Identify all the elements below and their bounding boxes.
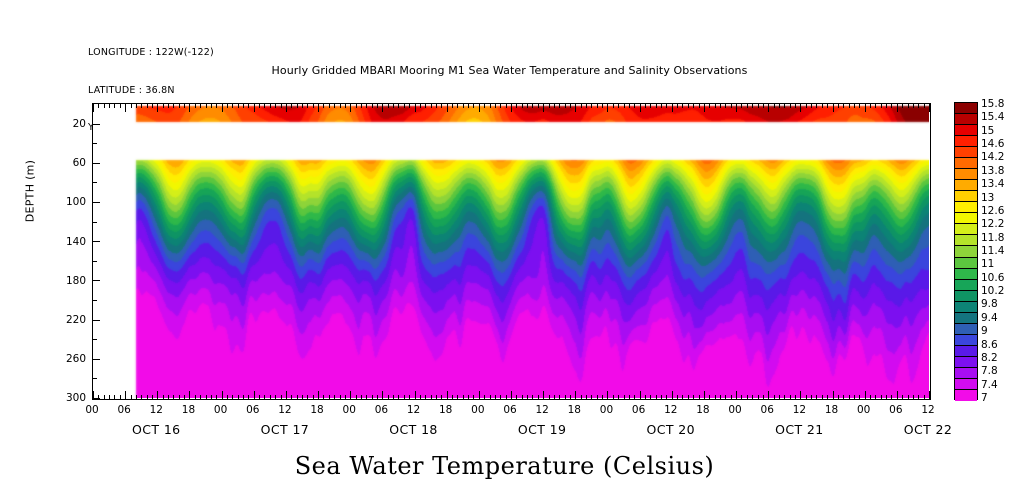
x-axis-minor-tick xyxy=(731,104,732,108)
x-axis-minor-tick xyxy=(725,104,726,108)
x-axis-minor-tick xyxy=(843,395,844,399)
x-axis-tick xyxy=(543,391,544,399)
x-axis-minor-tick xyxy=(902,104,903,108)
colorbar-swatch xyxy=(955,346,977,357)
x-axis-minor-tick xyxy=(323,395,324,399)
x-axis-minor-tick xyxy=(854,104,855,108)
x-tick-label: 06 xyxy=(246,404,259,416)
colorbar-swatch xyxy=(955,147,977,158)
x-axis-minor-tick xyxy=(216,395,217,399)
x-axis-minor-tick xyxy=(441,395,442,399)
x-axis-minor-tick xyxy=(452,104,453,108)
x-axis-minor-tick xyxy=(211,104,212,108)
x-axis-minor-tick xyxy=(527,104,528,108)
x-axis-minor-tick xyxy=(500,395,501,399)
x-axis-minor-tick xyxy=(436,104,437,108)
x-axis-tick xyxy=(575,104,576,112)
x-axis-minor-tick xyxy=(629,104,630,108)
x-axis-minor-tick xyxy=(650,104,651,108)
x-axis-minor-tick xyxy=(822,104,823,108)
y-axis-tick xyxy=(92,202,100,203)
colorbar-tick-label: 13.8 xyxy=(981,165,1004,177)
x-axis-minor-tick xyxy=(538,395,539,399)
x-axis-minor-tick xyxy=(211,395,212,399)
x-axis-tick xyxy=(833,391,834,399)
y-tick-label: 180 xyxy=(66,275,86,287)
x-axis-tick xyxy=(189,104,190,112)
x-axis-minor-tick xyxy=(774,395,775,399)
x-axis-minor-tick xyxy=(870,104,871,108)
x-axis-minor-tick xyxy=(490,104,491,108)
x-axis-minor-tick xyxy=(602,104,603,108)
contour-plot-area xyxy=(92,103,931,400)
x-axis-tick xyxy=(929,104,930,112)
x-axis-tick xyxy=(286,391,287,399)
x-tick-label: 12 xyxy=(921,404,934,416)
x-axis-minor-tick xyxy=(457,395,458,399)
x-axis-minor-tick xyxy=(114,104,115,108)
x-axis-minor-tick xyxy=(602,395,603,399)
x-tick-label: 18 xyxy=(825,404,838,416)
x-axis-tick xyxy=(736,104,737,112)
x-tick-label: 06 xyxy=(761,404,774,416)
x-tick-label: 06 xyxy=(117,404,130,416)
x-axis-minor-tick xyxy=(147,395,148,399)
x-axis-minor-tick xyxy=(806,395,807,399)
x-axis-minor-tick xyxy=(913,104,914,108)
x-axis-minor-tick xyxy=(302,104,303,108)
colorbar-swatch xyxy=(955,191,977,202)
colorbar-tick-label: 7.8 xyxy=(981,365,998,377)
x-axis-minor-tick xyxy=(634,104,635,108)
x-axis-minor-tick xyxy=(527,395,528,399)
x-axis-minor-tick xyxy=(393,395,394,399)
x-axis-minor-tick xyxy=(307,104,308,108)
x-axis-minor-tick xyxy=(120,395,121,399)
x-axis-minor-tick xyxy=(490,395,491,399)
colorbar-swatch xyxy=(955,103,977,114)
x-tick-label: 18 xyxy=(310,404,323,416)
x-tick-label: 18 xyxy=(568,404,581,416)
x-axis-tick xyxy=(254,104,255,112)
y-tick-label: 20 xyxy=(73,118,86,130)
x-axis-minor-tick xyxy=(666,395,667,399)
x-axis-minor-tick xyxy=(902,395,903,399)
colorbar-swatch xyxy=(955,114,977,125)
colorbar-swatch xyxy=(955,269,977,280)
x-axis-minor-tick xyxy=(361,104,362,108)
x-axis-tick xyxy=(157,104,158,112)
x-axis-minor-tick xyxy=(758,395,759,399)
x-tick-label: 12 xyxy=(278,404,291,416)
x-axis-minor-tick xyxy=(264,395,265,399)
colorbar-swatch xyxy=(955,379,977,390)
x-axis-minor-tick xyxy=(388,395,389,399)
y-tick-label: 220 xyxy=(66,314,86,326)
x-axis-minor-tick xyxy=(720,104,721,108)
x-axis-tick xyxy=(318,104,319,112)
x-axis-tick xyxy=(672,391,673,399)
x-axis-minor-tick xyxy=(522,104,523,108)
x-axis-minor-tick xyxy=(682,395,683,399)
colorbar-tick-label: 13.4 xyxy=(981,178,1004,190)
x-tick-label: 00 xyxy=(857,404,870,416)
x-axis-minor-tick xyxy=(281,104,282,108)
x-axis-minor-tick xyxy=(645,395,646,399)
colorbar-tick-label: 14.6 xyxy=(981,138,1004,150)
x-axis-tick xyxy=(93,391,94,399)
x-axis-minor-tick xyxy=(372,395,373,399)
x-tick-label: 18 xyxy=(696,404,709,416)
x-axis-minor-tick xyxy=(624,395,625,399)
x-axis-tick xyxy=(768,104,769,112)
x-axis-minor-tick xyxy=(516,104,517,108)
x-axis-minor-tick xyxy=(136,104,137,108)
x-axis-minor-tick xyxy=(591,104,592,108)
x-axis-minor-tick xyxy=(297,395,298,399)
x-axis-tick xyxy=(768,391,769,399)
x-axis-minor-tick xyxy=(634,395,635,399)
colorbar-swatch xyxy=(955,258,977,269)
x-axis-minor-tick xyxy=(532,395,533,399)
y-axis-minor-tick xyxy=(92,261,97,262)
chart-title: Hourly Gridded MBARI Mooring M1 Sea Wate… xyxy=(0,64,1009,77)
y-axis-minor-tick xyxy=(92,222,97,223)
x-axis-minor-tick xyxy=(131,395,132,399)
x-axis-minor-tick xyxy=(613,104,614,108)
x-axis-minor-tick xyxy=(248,395,249,399)
x-axis-minor-tick xyxy=(227,395,228,399)
x-tick-label: 18 xyxy=(182,404,195,416)
y-tick-label: 300 xyxy=(66,392,86,404)
x-axis-minor-tick xyxy=(549,395,550,399)
x-axis-minor-tick xyxy=(699,395,700,399)
x-axis-minor-tick xyxy=(313,104,314,108)
x-axis-tick xyxy=(382,104,383,112)
x-axis-minor-tick xyxy=(763,395,764,399)
x-axis-minor-tick xyxy=(554,104,555,108)
x-axis-minor-tick xyxy=(741,395,742,399)
x-axis-minor-tick xyxy=(581,104,582,108)
x-axis-minor-tick xyxy=(618,395,619,399)
contour-canvas-wrap xyxy=(93,104,930,399)
x-axis-tick xyxy=(189,391,190,399)
x-axis-tick xyxy=(704,104,705,112)
x-axis-minor-tick xyxy=(720,395,721,399)
x-axis-hour-labels: 0006121800061218000612180006121800061218… xyxy=(92,404,931,420)
x-axis-minor-tick xyxy=(790,395,791,399)
x-axis-tick xyxy=(511,104,512,112)
x-axis-minor-tick xyxy=(131,104,132,108)
x-axis-tick xyxy=(286,104,287,112)
x-axis-tick xyxy=(318,391,319,399)
x-axis-minor-tick xyxy=(441,104,442,108)
x-day-label: OCT 19 xyxy=(518,422,566,437)
x-axis-minor-tick xyxy=(152,104,153,108)
x-axis-minor-tick xyxy=(891,104,892,108)
x-axis-minor-tick xyxy=(291,104,292,108)
x-axis-minor-tick xyxy=(345,104,346,108)
x-axis-minor-tick xyxy=(484,395,485,399)
chart-subtitle: Sea Water Temperature (Celsius) xyxy=(0,452,1009,480)
x-axis-minor-tick xyxy=(816,104,817,108)
x-tick-label: 12 xyxy=(150,404,163,416)
y-tick-label: 260 xyxy=(66,353,86,365)
x-axis-tick xyxy=(415,391,416,399)
y-axis-minor-tick xyxy=(92,378,97,379)
x-tick-label: 06 xyxy=(503,404,516,416)
x-axis-minor-tick xyxy=(741,104,742,108)
x-axis-minor-tick xyxy=(297,104,298,108)
x-axis-minor-tick xyxy=(908,104,909,108)
x-axis-minor-tick xyxy=(886,104,887,108)
colorbar-swatch xyxy=(955,213,977,224)
x-axis-minor-tick xyxy=(661,395,662,399)
x-axis-minor-tick xyxy=(763,104,764,108)
y-axis-labels: 2060100140180220260300 xyxy=(42,103,86,400)
longitude-label: LONGITUDE : 122W(-122) xyxy=(88,47,214,60)
x-axis-minor-tick xyxy=(559,395,560,399)
colorbar-swatch xyxy=(955,313,977,324)
x-axis-tick xyxy=(254,391,255,399)
y-axis-tick xyxy=(92,280,100,281)
x-axis-minor-tick xyxy=(843,104,844,108)
colorbar-tick-label: 10.2 xyxy=(981,285,1004,297)
x-axis-minor-tick xyxy=(559,104,560,108)
x-axis-minor-tick xyxy=(243,104,244,108)
y-axis-title: DEPTH (m) xyxy=(24,160,37,223)
x-axis-minor-tick xyxy=(666,104,667,108)
x-axis-minor-tick xyxy=(463,395,464,399)
colorbar-swatch xyxy=(955,291,977,302)
y-axis-tick xyxy=(92,359,100,360)
x-tick-label: 06 xyxy=(632,404,645,416)
x-axis-minor-tick xyxy=(774,104,775,108)
x-axis-minor-tick xyxy=(184,104,185,108)
x-axis-tick xyxy=(865,391,866,399)
x-axis-minor-tick xyxy=(179,395,180,399)
x-axis-tick xyxy=(447,104,448,112)
x-axis-minor-tick xyxy=(206,104,207,108)
x-axis-minor-tick xyxy=(725,395,726,399)
x-axis-minor-tick xyxy=(259,395,260,399)
x-axis-minor-tick xyxy=(849,104,850,108)
colorbar-tick-label: 9.8 xyxy=(981,298,998,310)
x-axis-minor-tick xyxy=(699,104,700,108)
x-axis-tick xyxy=(479,391,480,399)
colorbar-tick-label: 15.8 xyxy=(981,98,1004,110)
x-axis-minor-tick xyxy=(361,395,362,399)
x-axis-minor-tick xyxy=(404,104,405,108)
x-axis-tick xyxy=(222,104,223,112)
x-axis-minor-tick xyxy=(549,104,550,108)
x-axis-minor-tick xyxy=(656,395,657,399)
x-axis-minor-tick xyxy=(586,104,587,108)
x-axis-minor-tick xyxy=(752,104,753,108)
x-axis-minor-tick xyxy=(570,104,571,108)
x-tick-label: 00 xyxy=(343,404,356,416)
x-axis-minor-tick xyxy=(677,104,678,108)
x-day-label: OCT 21 xyxy=(775,422,823,437)
x-axis-tick xyxy=(382,391,383,399)
x-axis-minor-tick xyxy=(270,104,271,108)
colorbar-swatch xyxy=(955,235,977,246)
x-axis-tick xyxy=(800,104,801,112)
x-axis-minor-tick xyxy=(200,395,201,399)
x-axis-tick xyxy=(157,391,158,399)
x-axis-tick xyxy=(800,391,801,399)
x-axis-minor-tick xyxy=(838,104,839,108)
y-axis-minor-tick xyxy=(92,339,97,340)
colorbar-tick-label: 8.6 xyxy=(981,339,998,351)
x-axis-minor-tick xyxy=(822,395,823,399)
x-axis-minor-tick xyxy=(924,395,925,399)
x-axis-minor-tick xyxy=(179,104,180,108)
x-axis-tick xyxy=(125,391,126,399)
x-axis-minor-tick xyxy=(420,395,421,399)
x-axis-minor-tick xyxy=(377,104,378,108)
x-axis-minor-tick xyxy=(377,395,378,399)
x-axis-minor-tick xyxy=(409,395,410,399)
x-axis-minor-tick xyxy=(104,104,105,108)
colorbar-tick-label: 11 xyxy=(981,258,994,270)
colorbar-swatch xyxy=(955,335,977,346)
x-axis-minor-tick xyxy=(645,104,646,108)
x-axis-tick xyxy=(833,104,834,112)
x-axis-minor-tick xyxy=(816,395,817,399)
x-axis-minor-tick xyxy=(147,104,148,108)
x-axis-minor-tick xyxy=(307,395,308,399)
x-axis-minor-tick xyxy=(581,395,582,399)
x-axis-tick xyxy=(350,391,351,399)
x-axis-minor-tick xyxy=(136,395,137,399)
colorbar-tick-label: 9.4 xyxy=(981,312,998,324)
colorbar-swatch xyxy=(955,246,977,257)
x-axis-minor-tick xyxy=(420,104,421,108)
x-axis-minor-tick xyxy=(264,104,265,108)
x-axis-minor-tick xyxy=(565,104,566,108)
x-axis-tick xyxy=(222,391,223,399)
x-axis-minor-tick xyxy=(875,104,876,108)
x-axis-minor-tick xyxy=(404,395,405,399)
x-axis-minor-tick xyxy=(806,104,807,108)
x-axis-minor-tick xyxy=(827,395,828,399)
colorbar-tick-label: 13 xyxy=(981,192,994,204)
colorbar-tick-label: 8.2 xyxy=(981,352,998,364)
x-axis-minor-tick xyxy=(313,395,314,399)
x-axis-minor-tick xyxy=(656,104,657,108)
x-axis-minor-tick xyxy=(206,395,207,399)
x-axis-minor-tick xyxy=(913,395,914,399)
x-axis-minor-tick xyxy=(881,104,882,108)
x-axis-minor-tick xyxy=(243,395,244,399)
x-axis-tick xyxy=(897,391,898,399)
x-axis-minor-tick xyxy=(345,395,346,399)
x-axis-minor-tick xyxy=(270,395,271,399)
colorbar-swatch xyxy=(955,136,977,147)
x-axis-minor-tick xyxy=(366,395,367,399)
colorbar-tick-label: 15.4 xyxy=(981,111,1004,123)
x-day-label: OCT 17 xyxy=(261,422,309,437)
x-axis-minor-tick xyxy=(232,104,233,108)
colorbar-swatch xyxy=(955,125,977,136)
x-axis-minor-tick xyxy=(372,104,373,108)
x-axis-minor-tick xyxy=(366,104,367,108)
x-axis-minor-tick xyxy=(227,104,228,108)
x-axis-minor-tick xyxy=(275,104,276,108)
colorbar-tick-label: 7 xyxy=(981,392,988,404)
x-axis-minor-tick xyxy=(854,395,855,399)
x-axis-minor-tick xyxy=(908,395,909,399)
y-axis-tick xyxy=(92,163,100,164)
x-axis-minor-tick xyxy=(340,104,341,108)
x-axis-minor-tick xyxy=(425,395,426,399)
x-axis-tick xyxy=(640,391,641,399)
x-axis-minor-tick xyxy=(693,104,694,108)
y-axis-tick xyxy=(92,241,100,242)
colorbar-swatch xyxy=(955,357,977,368)
x-tick-label: 06 xyxy=(375,404,388,416)
x-axis-minor-tick xyxy=(597,104,598,108)
x-axis-minor-tick xyxy=(425,104,426,108)
x-axis-minor-tick xyxy=(463,104,464,108)
x-axis-tick xyxy=(640,104,641,112)
colorbar xyxy=(954,102,978,400)
colorbar-swatch xyxy=(955,368,977,379)
x-axis-minor-tick xyxy=(259,104,260,108)
x-day-label: OCT 22 xyxy=(904,422,952,437)
x-axis-minor-tick xyxy=(532,104,533,108)
x-tick-label: 00 xyxy=(600,404,613,416)
colorbar-swatch xyxy=(955,158,977,169)
x-axis-tick xyxy=(704,391,705,399)
x-axis-tick xyxy=(447,391,448,399)
x-axis-tick xyxy=(543,104,544,112)
x-axis-minor-tick xyxy=(238,395,239,399)
x-axis-minor-tick xyxy=(790,104,791,108)
x-axis-minor-tick xyxy=(758,104,759,108)
colorbar-tick-label: 14.2 xyxy=(981,151,1004,163)
x-axis-minor-tick xyxy=(141,395,142,399)
y-axis-minor-tick xyxy=(92,300,97,301)
x-axis-tick xyxy=(93,104,94,112)
x-axis-tick xyxy=(415,104,416,112)
x-axis-minor-tick xyxy=(98,395,99,399)
x-axis-minor-tick xyxy=(291,395,292,399)
colorbar-swatch xyxy=(955,180,977,191)
x-axis-minor-tick xyxy=(388,104,389,108)
x-axis-minor-tick xyxy=(811,395,812,399)
x-axis-minor-tick xyxy=(565,395,566,399)
x-tick-label: 12 xyxy=(793,404,806,416)
x-axis-minor-tick xyxy=(484,104,485,108)
x-axis-minor-tick xyxy=(570,395,571,399)
x-axis-minor-tick xyxy=(275,395,276,399)
x-axis-minor-tick xyxy=(398,104,399,108)
x-axis-minor-tick xyxy=(109,395,110,399)
x-tick-label: 18 xyxy=(439,404,452,416)
y-tick-label: 60 xyxy=(73,157,86,169)
x-axis-minor-tick xyxy=(591,395,592,399)
x-axis-minor-tick xyxy=(163,104,164,108)
x-axis-minor-tick xyxy=(795,395,796,399)
colorbar-swatch xyxy=(955,324,977,335)
colorbar-tick-label: 12.6 xyxy=(981,205,1004,217)
x-axis-minor-tick xyxy=(827,104,828,108)
x-axis-minor-tick xyxy=(795,104,796,108)
x-axis-minor-tick xyxy=(356,104,357,108)
x-tick-label: 00 xyxy=(728,404,741,416)
